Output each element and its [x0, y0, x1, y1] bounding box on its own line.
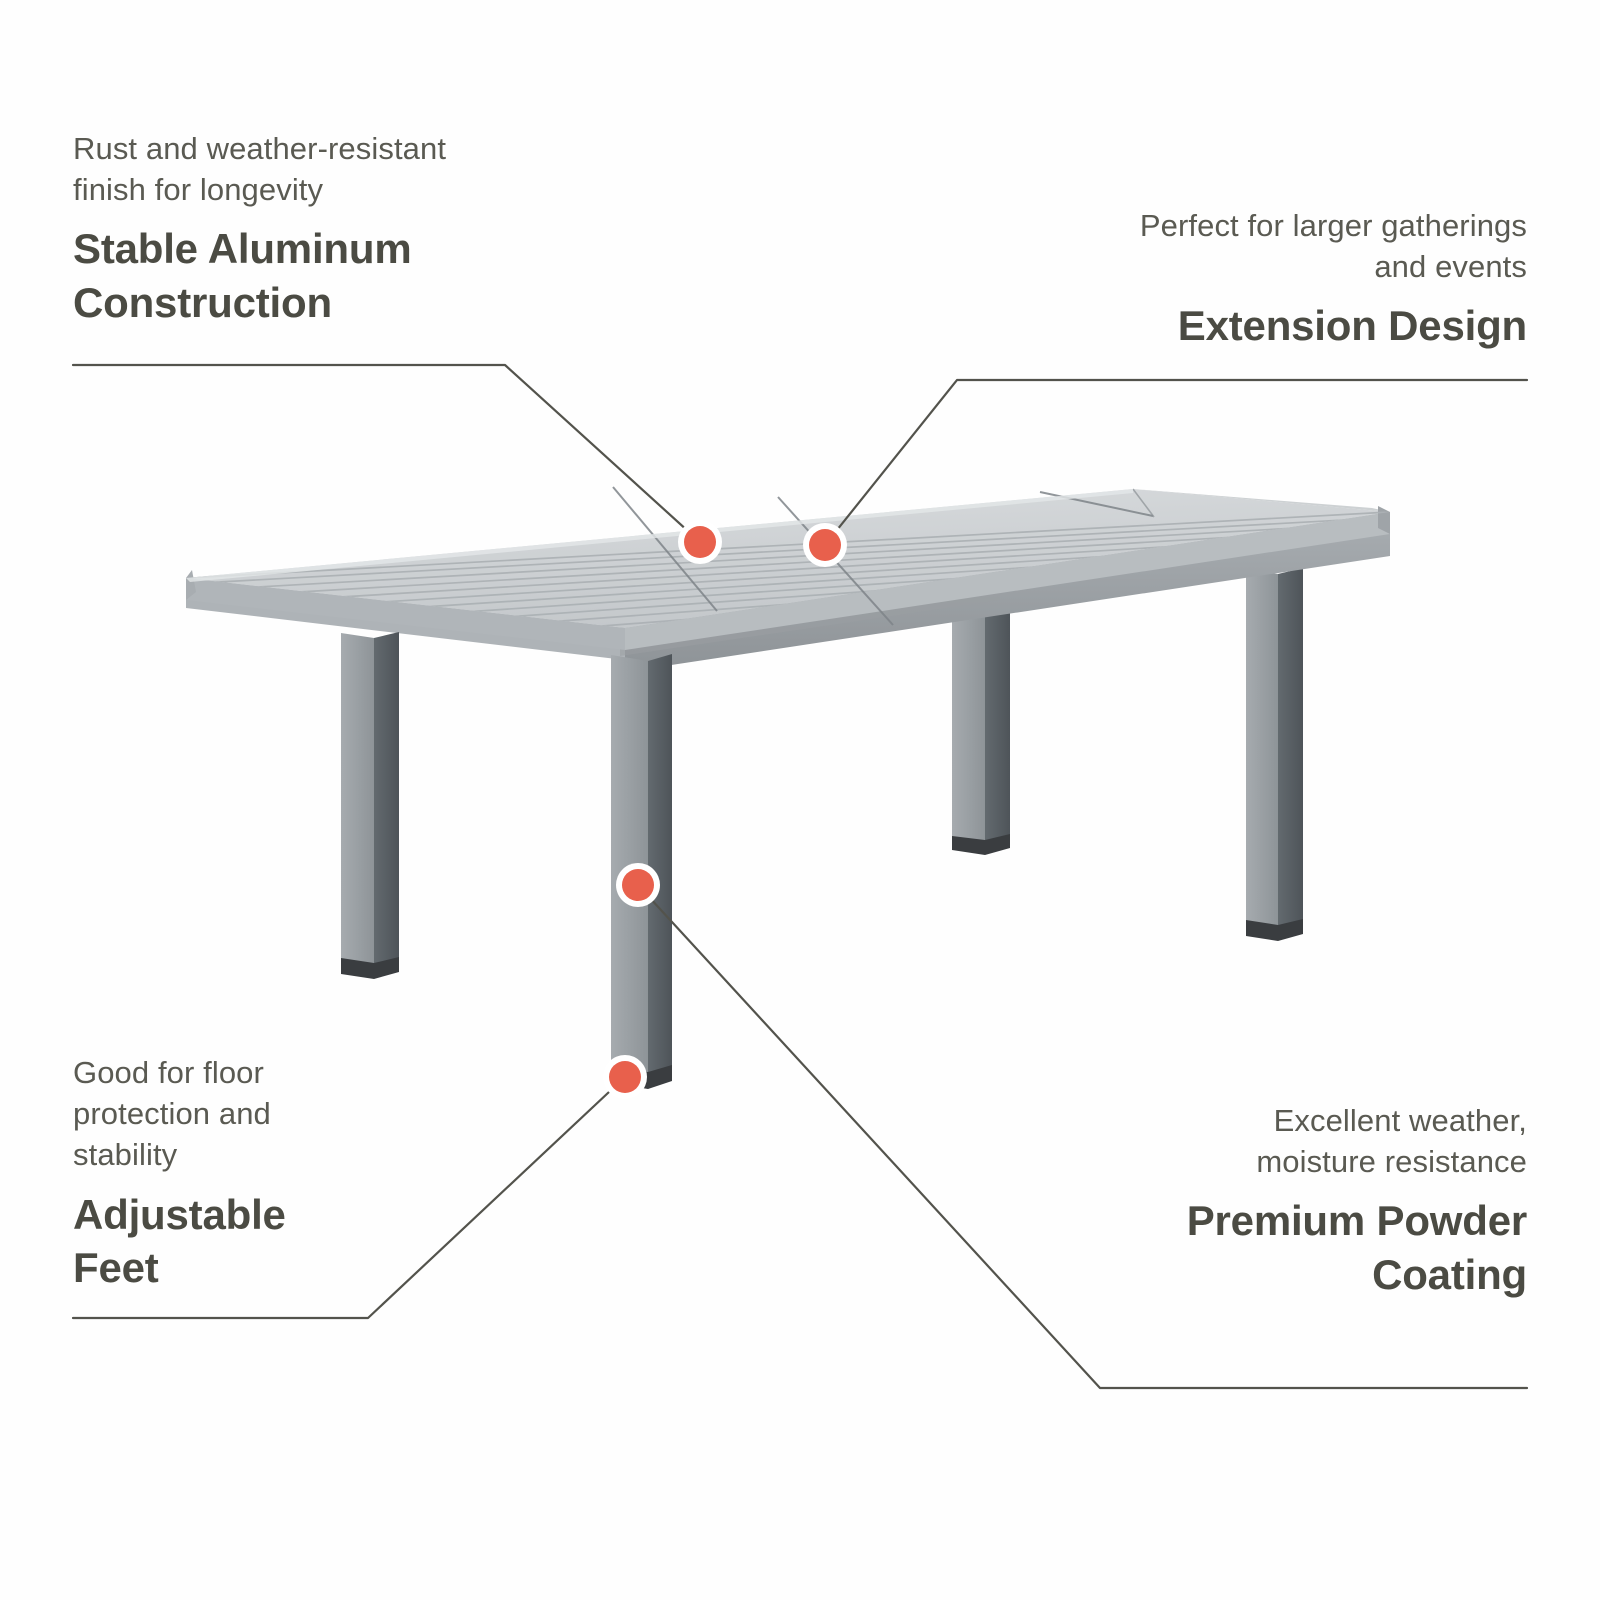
table-leg-back-right: [1246, 568, 1303, 941]
table-graphic: [186, 487, 1434, 1089]
callout-title: Premium Powder Coating: [1057, 1194, 1527, 1302]
marker-extension-design[interactable]: [803, 523, 847, 567]
infographic-page: Rust and weather-resistant finish for lo…: [0, 0, 1600, 1600]
marker-stable-aluminum-construction[interactable]: [678, 520, 722, 564]
callout-title: Extension Design: [967, 299, 1527, 353]
callout-subtitle: Excellent weather, moisture resistance: [1057, 1100, 1527, 1182]
callout-title: Stable Aluminum Construction: [73, 222, 593, 330]
leader-stable-aluminum-construction: [73, 365, 700, 542]
callout-extension-design: Perfect for larger gatherings and events…: [967, 205, 1527, 353]
table-leg-front-left: [341, 632, 399, 979]
callout-adjustable-feet: Good for floor protection and stability …: [73, 1052, 503, 1295]
callout-subtitle: Good for floor protection and stability: [73, 1052, 503, 1176]
marker-adjustable-feet[interactable]: [603, 1055, 647, 1099]
callout-subtitle: Rust and weather-resistant finish for lo…: [73, 128, 593, 210]
marker-premium-powder-coating[interactable]: [616, 863, 660, 907]
callout-stable-aluminum-construction: Rust and weather-resistant finish for lo…: [73, 128, 593, 330]
callout-title: Adjustable Feet: [73, 1188, 503, 1296]
callout-subtitle: Perfect for larger gatherings and events: [967, 205, 1527, 287]
table-leg-back-left: [952, 598, 1010, 855]
callout-premium-powder-coating: Excellent weather, moisture resistance P…: [1057, 1100, 1527, 1302]
